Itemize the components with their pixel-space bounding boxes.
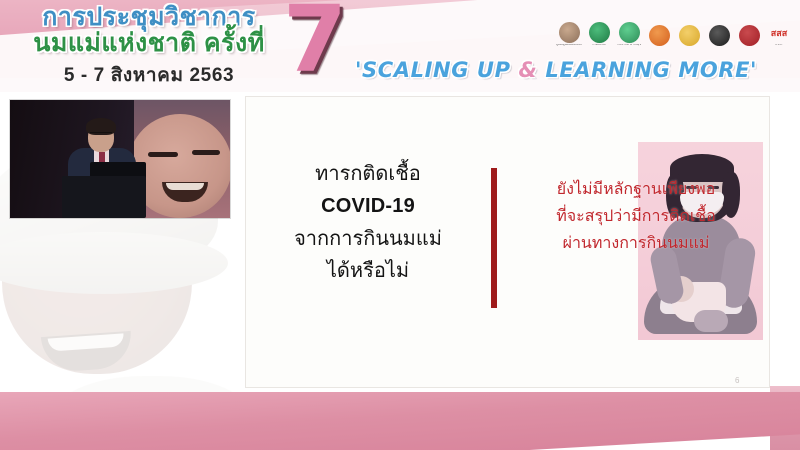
- screen-baby-teeth: [166, 183, 204, 190]
- logo-disc-icon: [649, 25, 670, 46]
- logo-royal-crest-red: [736, 25, 762, 47]
- conference-tagline: 'SCALING UP & LEARNING MORE': [355, 58, 757, 82]
- edition-number: 7: [283, 0, 347, 86]
- logo-disc-icon: [559, 22, 580, 43]
- screen-baby-eye-left: [148, 152, 178, 157]
- slide-number: 6: [735, 376, 739, 385]
- conference-title-line1: การประชุมวิชาการ: [14, 4, 284, 31]
- question-text: ทารกติดเชื้อ COVID-19 จากการกินนมแม่ ได้…: [268, 158, 468, 288]
- logo-thai-breastfeeding-foundation: มูลนิธิศูนย์นมแม่แห่งประเทศไทย: [556, 22, 582, 47]
- logo-thaihealth-sss: สสส ส.ส.ส.: [766, 22, 792, 47]
- screen-baby-face: [134, 114, 230, 218]
- logo-royal-emblem-gold: [676, 25, 702, 47]
- answer-line-1: ยังไม่มีหลักฐานเพียงพอ: [500, 176, 772, 203]
- tagline-part-1: 'SCALING UP: [355, 58, 519, 82]
- logo-ministry-of-public-health: กรมอนามัย: [586, 22, 612, 47]
- logo-royal-emblem-orange: [646, 25, 672, 47]
- conference-speaker-photo: [10, 100, 230, 218]
- child-hat-brim: [0, 232, 228, 294]
- logo-caption: กรมอนามัย: [592, 44, 605, 47]
- question-line-4: ได้หรือไม่: [268, 255, 468, 287]
- logo-department-of-health: กระทรวงสาธารณสุข: [616, 22, 642, 47]
- logo-disc-icon: [619, 22, 640, 43]
- screen-baby-eye-right: [192, 150, 220, 155]
- slide-content: ทารกติดเชื้อ COVID-19 จากการกินนมแม่ ได้…: [0, 92, 800, 450]
- logo-disc-icon: [679, 25, 700, 46]
- logo-disc-icon: [739, 25, 760, 46]
- conference-banner: 7 การประชุมวิชาการ นมแม่แห่งชาติ ครั้งที…: [0, 0, 800, 92]
- logo-university-black: [706, 25, 732, 47]
- logo-disc-icon: [709, 25, 730, 46]
- logo-disc-icon: [589, 22, 610, 43]
- tagline-ampersand: &: [519, 58, 538, 82]
- projection-screen-baby-image: [134, 100, 230, 218]
- sponsor-logos: มูลนิธิศูนย์นมแม่แห่งประเทศไทย กรมอนามัย…: [556, 22, 792, 47]
- podium: [62, 176, 146, 218]
- logo-sss-text-icon: สสส: [769, 22, 790, 43]
- answer-line-3: ผ่านทางการกินนมแม่: [500, 230, 772, 257]
- speaker-glasses-icon: [90, 132, 112, 138]
- tagline-part-2: LEARNING MORE': [537, 58, 757, 82]
- answer-text: ยังไม่มีหลักฐานเพียงพอ ที่จะสรุปว่ามีการ…: [500, 176, 772, 258]
- mother-hand: [694, 310, 728, 332]
- slide-screenshot: 7 การประชุมวิชาการ นมแม่แห่งชาติ ครั้งที…: [0, 0, 800, 450]
- question-line-2: COVID-19: [268, 190, 468, 222]
- conference-title-line2: นมแม่แห่งชาติ ครั้งที่: [14, 30, 284, 57]
- conference-date: 5 - 7 สิงหาคม 2563: [14, 60, 284, 90]
- conference-title-block: การประชุมวิชาการ นมแม่แห่งชาติ ครั้งที่ …: [14, 4, 284, 90]
- logo-caption: มูลนิธิศูนย์นมแม่แห่งประเทศไทย: [556, 44, 582, 47]
- slide-footer-band: [0, 392, 800, 450]
- answer-line-2: ที่จะสรุปว่ามีการติดเชื้อ: [500, 203, 772, 230]
- vertical-divider: [491, 168, 497, 308]
- logo-caption: กระทรวงสาธารณสุข: [617, 44, 641, 47]
- footer-pink-diagonal: [0, 392, 800, 450]
- question-line-1: ทารกติดเชื้อ: [268, 158, 468, 190]
- logo-caption: ส.ส.ส.: [775, 44, 782, 47]
- question-line-3: จากการกินนมแม่: [268, 223, 468, 255]
